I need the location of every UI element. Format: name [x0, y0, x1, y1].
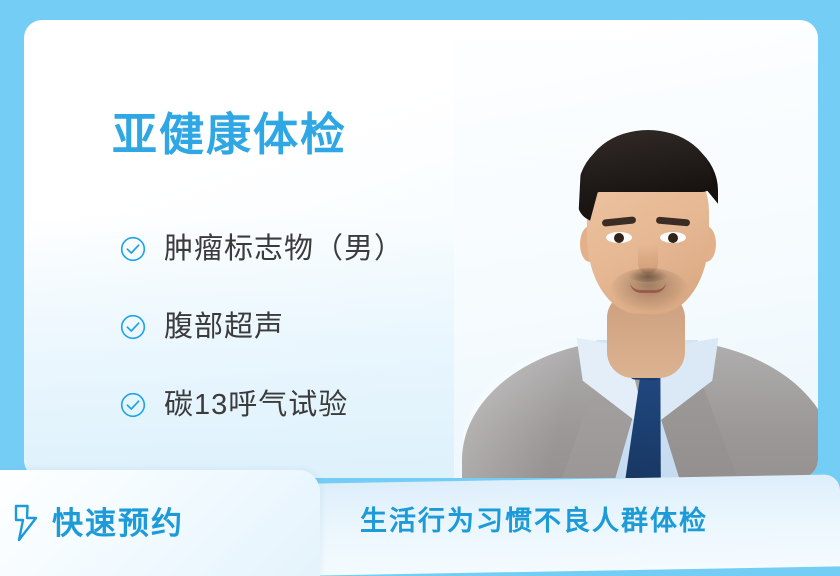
check-circle-icon	[120, 236, 146, 262]
check-circle-icon	[120, 392, 146, 418]
quick-booking-button[interactable]: 快速预约	[0, 470, 320, 576]
eye-right	[660, 232, 686, 243]
eye-left	[606, 232, 632, 243]
feature-item: 腹部超声	[120, 288, 404, 366]
pupil-right	[668, 233, 678, 243]
mouth-shape	[630, 282, 666, 293]
health-checkup-banner: 亚健康体检 肿瘤标志物（男） 腹部超声	[0, 0, 840, 576]
promo-text: 生活行为习惯不良人群体检	[360, 504, 780, 539]
quick-booking-label: 快速预约	[52, 508, 184, 539]
feature-item: 碳13呼气试验	[120, 366, 404, 444]
pupil-left	[614, 233, 624, 243]
package-card: 亚健康体检 肿瘤标志物（男） 腹部超声	[24, 20, 818, 478]
feature-list: 肿瘤标志物（男） 腹部超声 碳13呼气试验	[120, 210, 404, 444]
quick-booking-content: 快速预约	[0, 470, 300, 576]
package-title: 亚健康体检	[112, 112, 347, 157]
feature-item: 肿瘤标志物（男）	[120, 210, 404, 288]
moustache-shade	[628, 268, 668, 282]
person-photo	[454, 40, 818, 478]
feature-label: 碳13呼气试验	[164, 391, 348, 420]
feature-label: 腹部超声	[164, 313, 284, 342]
feature-label: 肿瘤标志物（男）	[164, 235, 404, 264]
lightning-bolt-icon	[12, 504, 40, 542]
check-circle-icon	[120, 314, 146, 340]
